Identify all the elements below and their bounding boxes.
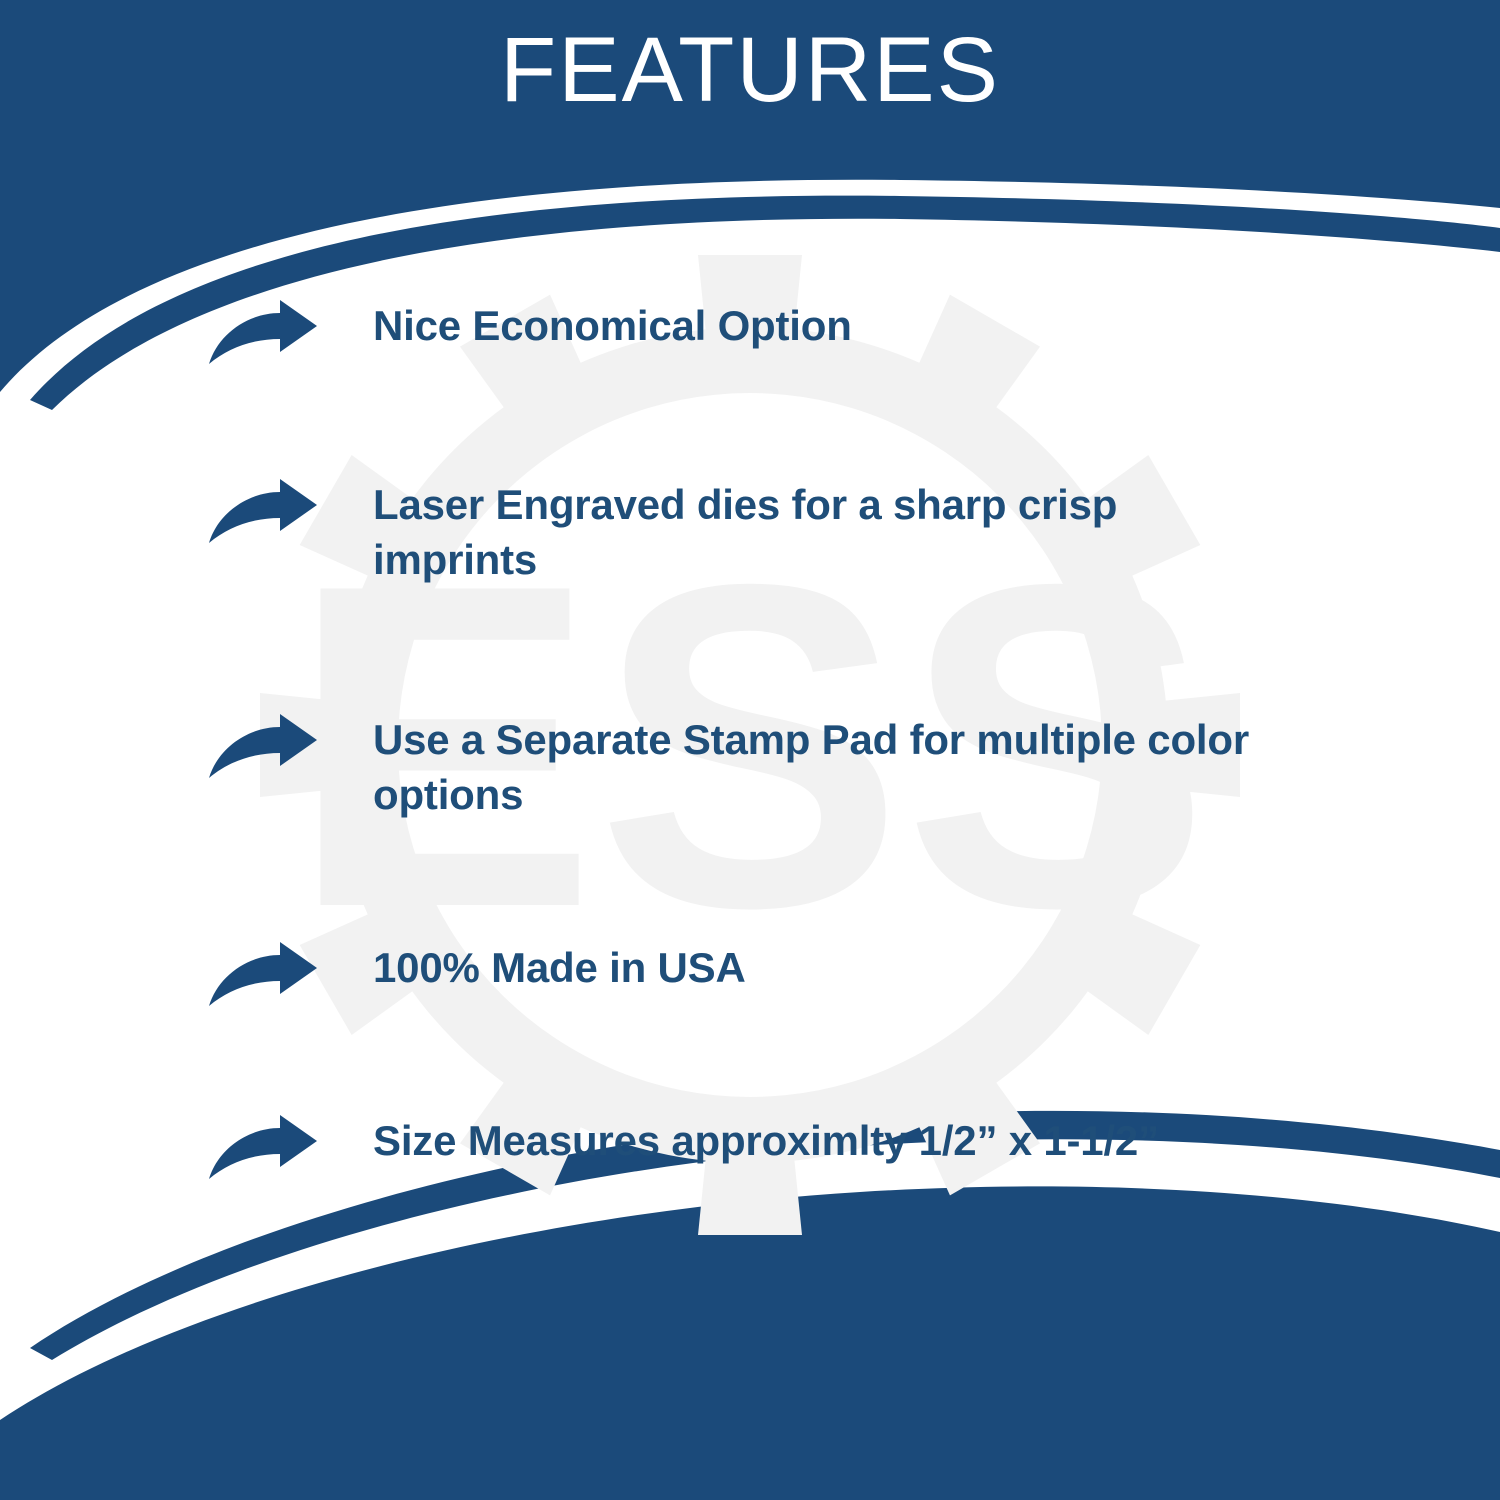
feature-item-label: Laser Engraved dies for a sharp crisp im… <box>373 477 1117 588</box>
feature-item-label: Size Measures approximlty 1/2” x 1-1/2” <box>373 1113 1159 1168</box>
feature-item-label: 100% Made in USA <box>373 940 746 995</box>
feature-item: Use a Separate Stamp Pad for multiple co… <box>208 712 1249 823</box>
page-title: FEATURES <box>500 0 1000 119</box>
curved-arrow-icon <box>208 1115 318 1187</box>
feature-item: Nice Economical Option <box>208 298 852 372</box>
curved-arrow-icon <box>208 479 318 551</box>
header: FEATURES <box>0 0 1500 150</box>
curved-arrow-icon <box>208 300 318 372</box>
feature-item-label: Use a Separate Stamp Pad for multiple co… <box>373 712 1249 823</box>
feature-item: Laser Engraved dies for a sharp crisp im… <box>208 477 1117 588</box>
features-card: ESS FEATURES Nice Economical Option Lase… <box>0 0 1500 1500</box>
feature-item-label: Nice Economical Option <box>373 298 852 353</box>
curved-arrow-icon <box>208 942 318 1014</box>
feature-list: Nice Economical Option Laser Engraved di… <box>0 0 1500 1500</box>
feature-item: Size Measures approximlty 1/2” x 1-1/2” <box>208 1113 1159 1187</box>
curved-arrow-icon <box>208 714 318 786</box>
feature-item: 100% Made in USA <box>208 940 746 1014</box>
